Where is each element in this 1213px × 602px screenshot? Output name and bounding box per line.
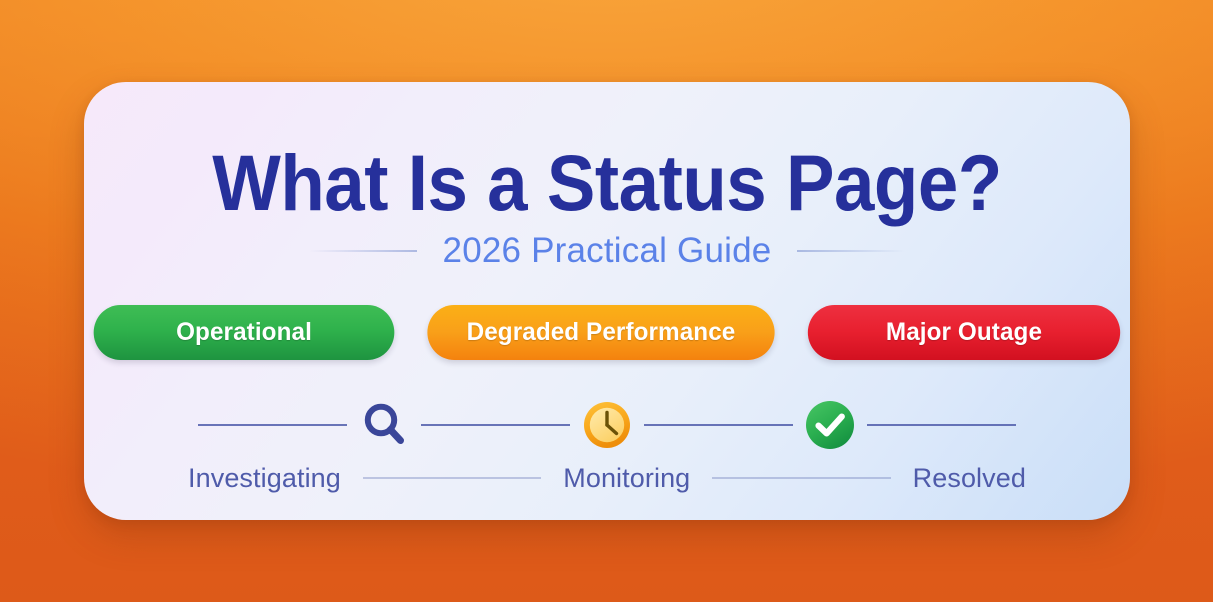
incident-timeline: Investigating Monitoring Resolved	[188, 397, 1026, 497]
page-subtitle: 2026 Practical Guide	[443, 229, 772, 273]
status-pill-group: Operational Degraded Performance Major O…	[84, 305, 1130, 360]
timeline-icon-row	[188, 397, 1026, 453]
timeline-step-resolved-icon[interactable]	[803, 398, 857, 452]
subtitle-row: 2026 Practical Guide	[84, 229, 1130, 273]
status-pill-operational-label: Operational	[176, 318, 312, 347]
timeline-label-connector-2	[712, 477, 890, 479]
timeline-connector-2	[644, 424, 793, 426]
timeline-label-connector-1	[363, 477, 541, 479]
status-pill-major-outage[interactable]: Major Outage	[808, 305, 1120, 360]
poster-canvas: What Is a Status Page? 2026 Practical Gu…	[0, 0, 1213, 602]
check-circle-icon	[804, 399, 856, 451]
content-card: What Is a Status Page? 2026 Practical Gu…	[84, 82, 1130, 520]
status-pill-degraded-performance-label: Degraded Performance	[467, 318, 736, 347]
subtitle-rule-right	[797, 250, 905, 252]
subtitle-rule-left	[309, 250, 417, 252]
timeline-connector-start	[198, 424, 347, 426]
status-pill-degraded-performance[interactable]: Degraded Performance	[427, 305, 774, 360]
timeline-label-investigating: Investigating	[188, 459, 341, 497]
status-pill-operational[interactable]: Operational	[94, 305, 395, 360]
page-title: What Is a Status Page?	[126, 140, 1088, 226]
clock-icon	[582, 400, 632, 450]
timeline-step-investigating-icon[interactable]	[357, 398, 411, 452]
status-pill-major-outage-label: Major Outage	[886, 318, 1042, 347]
timeline-step-monitoring-icon[interactable]	[580, 398, 634, 452]
timeline-connector-1	[421, 424, 570, 426]
magnifying-glass-icon	[358, 399, 410, 451]
timeline-label-row: Investigating Monitoring Resolved	[188, 459, 1026, 497]
timeline-connector-end	[867, 424, 1016, 426]
timeline-label-monitoring: Monitoring	[563, 459, 690, 497]
timeline-label-resolved: Resolved	[913, 459, 1026, 497]
